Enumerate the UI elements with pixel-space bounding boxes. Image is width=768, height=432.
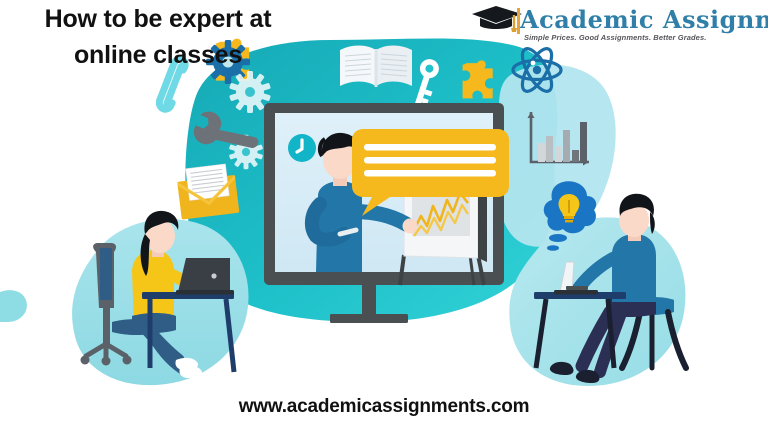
website-url[interactable]: www.academicassignments.com — [0, 396, 768, 418]
brand-logo[interactable]: Academic Assignments Simple Prices. Good… — [470, 2, 762, 52]
monitor-stand-neck — [362, 285, 376, 315]
page-title-line-2: online classes — [8, 38, 308, 74]
poster-canvas: How to be expert at online classes Acade… — [0, 0, 768, 432]
logo-brand-name: Academic Assignments — [520, 5, 768, 34]
page-title-line-1: How to be expert at — [8, 2, 308, 38]
teal-sliver-left — [0, 290, 27, 322]
graduation-cap-icon — [470, 4, 524, 32]
logo-tagline: Simple Prices. Good Assignments. Better … — [524, 33, 706, 42]
student-right-shirt — [612, 234, 656, 302]
page-title: How to be expert at online classes — [8, 2, 308, 73]
clock-icon — [288, 134, 316, 162]
monitor-stand-base — [330, 314, 408, 323]
open-book-icon — [340, 46, 412, 88]
